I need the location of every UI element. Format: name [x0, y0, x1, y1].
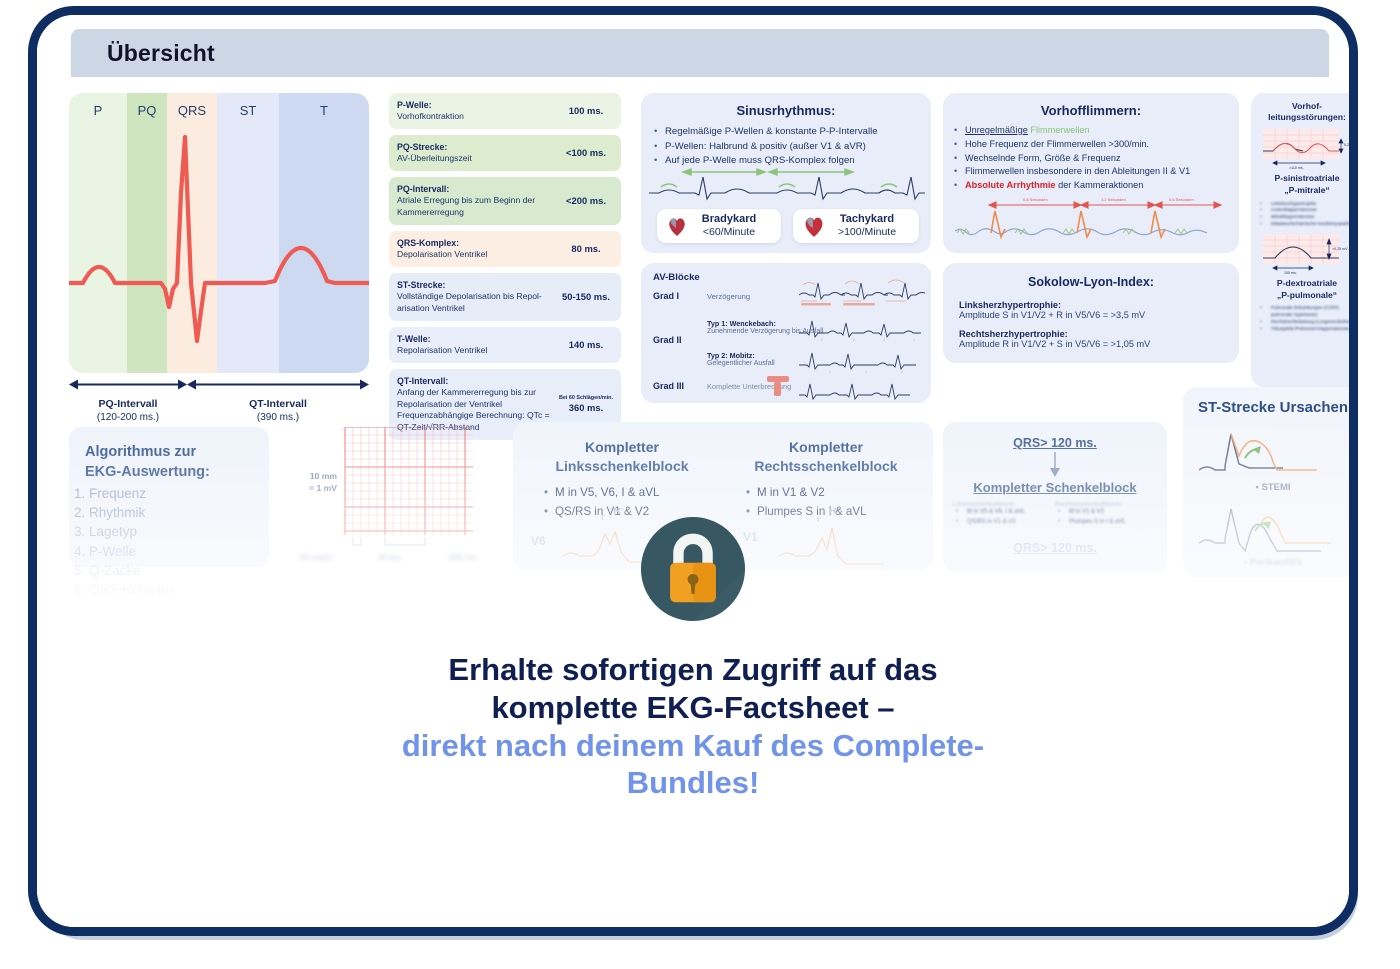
list-item: Trikuspidal-/Pulmonal-Klappenstenose — [1257, 326, 1358, 333]
list-item: Unregelmäßige Flimmerwellen — [951, 124, 1229, 138]
svg-text:0,8 Sekunden: 0,8 Sekunden — [1023, 197, 1048, 202]
window-inner: Übersicht PPQQRSSTT PQ-Int — [37, 15, 1349, 927]
av-blocks-title: AV-Blöcke — [653, 272, 700, 283]
list-item: M in V1 & V2 — [743, 484, 933, 503]
vorhofflimmern-card: Vorhofflimmern: Unregelmäßige Flimmerwel… — [943, 93, 1239, 253]
qt-interval-arrow — [187, 377, 369, 392]
cta-line-3: direkt nach deinem Kauf des Complete- — [37, 727, 1349, 765]
ecg-band-p: P — [69, 93, 127, 373]
list-item: Regelmäßige P-Wellen & konstante P-P-Int… — [651, 125, 919, 140]
p-pulmonale-tracing: >0,25 mV 100 ms. — [1259, 234, 1355, 274]
legend-row-value: 50-150 ms. — [559, 291, 613, 303]
pq-interval-label: PQ-Intervall (120-200 ms.) — [69, 397, 187, 425]
vhf-rhythm-strip: 0,8 Sekunden 1,2 Sekunden 0,5 Sekunden — [955, 197, 1227, 243]
ecg-band-st: ST — [217, 93, 279, 373]
vhf-bullets: Unregelmäßige Flimmerwellen Hohe Frequen… — [951, 124, 1229, 193]
ecg-band-t: T — [279, 93, 369, 373]
svg-text:100 ms.: 100 ms. — [1284, 271, 1297, 274]
legend-row: ST-Strecke:Vollständige Depolarisation b… — [389, 273, 621, 321]
list-item: Absolute Arrhythmie der Kammeraktionen — [951, 179, 1229, 193]
amplitude-label: 10 mm= 1 mV — [277, 471, 337, 494]
list-item: Pulmonale Erkrankungen (COPD, pulmonale … — [1257, 305, 1358, 319]
ecg-band-label: P — [69, 103, 127, 118]
list-item: Mitralklappenstenose — [1257, 214, 1358, 221]
list-item: Hohe Frequenz der Flimmerwellen >300/min… — [951, 138, 1229, 152]
legend-row-text: ST-Strecke:Vollständige Depolarisation b… — [397, 279, 559, 315]
p-mitrale-tracing: 0,25 mV >110 ms. — [1259, 129, 1355, 169]
legend-row-text: QRS-Komplex:Depolarisation Ventrikel — [397, 237, 559, 261]
algorithm-title: Algorithmus zurEKG-Auswertung: — [69, 427, 269, 482]
flow-middle-label: Kompletter Schenkelblock — [943, 480, 1167, 495]
p-mitrale-name: P-sinistroatriale„P-mitrale“ — [1251, 173, 1358, 196]
page-title: Übersicht — [107, 40, 215, 67]
sokolow-left: Linksherzhypertrophie: Amplitude S in V1… — [959, 300, 1239, 320]
stemi-tracing — [1199, 424, 1347, 482]
pq-interval-arrow — [69, 377, 187, 392]
legend-row-value: Bei 60 Schlägen/min.360 ms. — [559, 395, 613, 414]
svg-text:>0,25 mV: >0,25 mV — [1332, 247, 1348, 251]
av-desc-3: Gelegentlicher Ausfall — [707, 360, 775, 367]
svg-text:1: 1 — [821, 338, 823, 342]
heart-icon — [667, 215, 687, 237]
ecg-band-pq: PQ — [127, 93, 167, 373]
legend-row-text: P-Welle:Vorhofkontraktion — [397, 99, 559, 123]
svg-text:1,2 Sekunden: 1,2 Sekunden — [1101, 197, 1126, 202]
tachykard-text: Tachykard>100/Minute — [825, 213, 909, 239]
sinus-title: Sinusrhythmus: — [641, 93, 931, 118]
rsb-title: KompletterRechtsschenkelblock — [729, 438, 923, 476]
av-grade-2: Grad II — [653, 335, 682, 345]
av-grade-1: Grad I — [653, 291, 679, 301]
vls-title: Vorhof-leitungsstörungen: — [1251, 93, 1358, 123]
ecg-band-label: ST — [217, 103, 279, 118]
av-blocks-card: AV-Blöcke Grad I Verzögerung Grad II Typ… — [641, 263, 931, 403]
p-mitrale-causes: Linksherzhypertrophie Aortenklappensteno… — [1257, 201, 1358, 229]
p-pulmonale-causes: Pulmonale Erkrankungen (COPD, pulmonale … — [1257, 305, 1358, 333]
legend-row-text: PQ-Intervall:Atriale Erregung bis zum Be… — [397, 183, 559, 219]
svg-text:0,5 Sekunden: 0,5 Sekunden — [1169, 197, 1194, 202]
legend-row-value: <100 ms. — [559, 147, 613, 159]
window-header: Übersicht — [71, 29, 1329, 77]
cta-line-2: komplette EKG-Factsheet – — [37, 689, 1349, 727]
sokolow-lyon-card: Sokolow-Lyon-Index: Linksherzhypertrophi… — [943, 263, 1239, 363]
av-desc-1: Verzögerung — [707, 292, 750, 301]
svg-text:2: 2 — [853, 338, 855, 342]
list-item: Aortenklappenstenose — [1257, 207, 1358, 214]
cta-line-4: Bundles! — [37, 764, 1349, 802]
ecg-intervals: PQ-Intervall (120-200 ms.) QT-Intervall — [69, 377, 369, 425]
legend-row: P-Welle:Vorhofkontraktion100 ms. — [389, 93, 621, 129]
sokolow-right: Rechtsherzhypertrophie: Amplitude R in V… — [959, 329, 1239, 349]
ecg-band-label: PQ — [127, 103, 167, 118]
svg-text:1: 1 — [901, 370, 903, 374]
heart-icon — [803, 214, 825, 238]
ecg-phase-strip: PPQQRSSTT — [69, 93, 369, 373]
svg-text:0,25 mV: 0,25 mV — [1344, 143, 1355, 147]
list-item: M in V5, V6, I & aVL — [541, 484, 731, 503]
av-blocks-tracings: 1 2 3 x 1 x 1 — [799, 269, 925, 401]
legend-row: PQ-Strecke:AV-Überleitungszeit<100 ms. — [389, 135, 621, 171]
list-item: Wechselnde Form, Größe & Frequenz — [951, 152, 1229, 166]
lock-icon — [641, 517, 745, 621]
legend-row: QRS-Komplex:Depolarisation Ventrikel80 m… — [389, 231, 621, 267]
legend-row: PQ-Intervall:Atriale Erregung bis zum Be… — [389, 177, 621, 225]
blocked-conduction-icon — [765, 373, 791, 399]
svg-text:x: x — [913, 338, 915, 342]
content-canvas: PPQQRSSTT PQ-Intervall (120-200 ms.) — [37, 77, 1349, 927]
sinus-bullets: Regelmäßige P-Wellen & konstante P-P-Int… — [651, 125, 919, 169]
ecg-band-label: QRS — [167, 103, 217, 118]
sinusrhythmus-card: Sinusrhythmus: Regelmäßige P-Wellen & ko… — [641, 93, 931, 253]
list-item: Frequenz — [89, 484, 269, 503]
av-sub-mobitz: Typ 2: Mobitz: — [707, 351, 755, 360]
window-frame: Übersicht PPQQRSSTT PQ-Int — [28, 6, 1358, 936]
flow-arrow-down-icon — [1048, 452, 1062, 478]
tachykard-pill: Tachykard>100/Minute — [793, 209, 919, 243]
ecg-legend-table: P-Welle:Vorhofkontraktion100 ms.PQ-Strec… — [389, 93, 621, 446]
qt-interval-label: QT-Intervall (390 ms.) — [187, 397, 369, 425]
st-causes-title: ST-Strecke Ursachen — [1183, 387, 1358, 416]
sinus-rhythm-strip — [649, 167, 925, 203]
svg-text:3: 3 — [883, 338, 885, 342]
legend-row-value: 100 ms. — [559, 105, 613, 117]
ecg-band-label: T — [279, 103, 369, 118]
lsb-title: KompletterLinksschenkelblock — [527, 438, 717, 476]
legend-row-text: T-Welle:Repolarisation Ventrikel — [397, 333, 559, 357]
svg-text:1: 1 — [829, 370, 831, 374]
legend-row-value: 140 ms. — [559, 339, 613, 351]
legend-row-value: <200 ms. — [559, 195, 613, 207]
legend-row: T-Welle:Repolarisation Ventrikel140 ms. — [389, 327, 621, 363]
svg-text:x: x — [865, 370, 867, 374]
av-grade-3: Grad III — [653, 381, 684, 391]
legend-row-value: 80 ms. — [559, 243, 613, 255]
av-sub-wenckebach: Typ 1: Wenckebach: — [707, 319, 776, 328]
list-item: Linksherzhypertrophie — [1257, 201, 1358, 208]
vhf-title: Vorhofflimmern: — [943, 93, 1239, 118]
stemi-label: • STEMI — [1183, 482, 1358, 493]
sokolow-title: Sokolow-Lyon-Index: — [943, 263, 1239, 289]
bradykard-pill: Bradykard<60/Minute — [657, 209, 781, 243]
vorhofleitungsstoerungen-card: Vorhof-leitungsstörungen: 0,25 mV — [1251, 93, 1358, 387]
paywall-cta: Erhalte sofortigen Zugriff auf das kompl… — [37, 517, 1349, 802]
bradykard-text: Bradykard<60/Minute — [687, 213, 771, 239]
svg-text:>110 ms.: >110 ms. — [1289, 166, 1304, 169]
flow-top-label: QRS> 120 ms. — [943, 422, 1167, 450]
list-item: Flimmerwellen insbesondere in den Ableit… — [951, 165, 1229, 179]
legend-row-text: PQ-Strecke:AV-Überleitungszeit — [397, 141, 559, 165]
svg-text:R': R' — [829, 508, 840, 517]
ecg-band-qrs: QRS — [167, 93, 217, 373]
list-item: Dilatative/ischämische Kardiomyopathie — [1257, 221, 1358, 228]
list-item: P-Wellen: Halbrund & positiv (außer V1 &… — [651, 140, 919, 155]
list-item: Rechtsherzbelastung (Lungenembolie) — [1257, 319, 1358, 326]
svg-text:R': R' — [613, 508, 624, 517]
p-pulmonale-name: P-dextroatriale„P-pulmonale“ — [1251, 278, 1358, 301]
cta-line-1: Erhalte sofortigen Zugriff auf das — [37, 651, 1349, 689]
